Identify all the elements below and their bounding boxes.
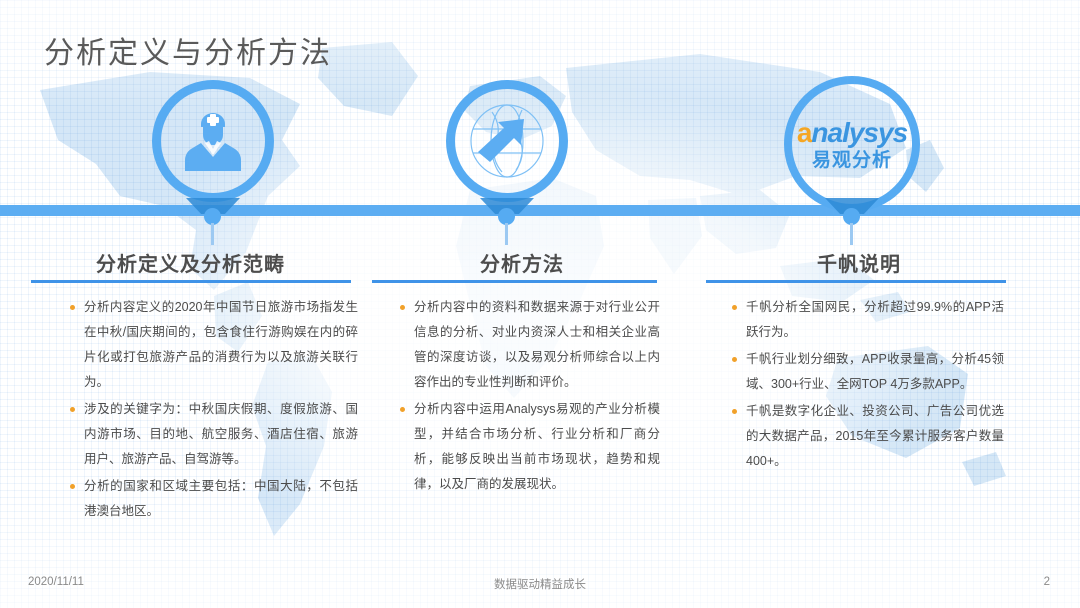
- globe-arrow-icon: [446, 80, 568, 202]
- analysys-wordmark: analysys: [797, 119, 907, 147]
- column-analysis-definition: 分析定义及分析范畴 分析内容定义的2020年中国节日旅游市场指发生在中秋/国庆期…: [18, 80, 363, 212]
- list-item: 分析内容中运用Analysys易观的产业分析模型，并结合市场分析、行业分析和厂商…: [392, 397, 660, 497]
- column-rule: [372, 280, 657, 283]
- icon-badge-wrapper: [18, 80, 363, 212]
- slide-canvas: 分析定义与分析方法: [0, 0, 1080, 608]
- analysys-logo-icon: analysys 易观分析: [784, 76, 920, 212]
- column-analysis-method: 分析方法 分析内容中的资料和数据来源于对行业公开信息的分析、对业内资深人士和相关…: [372, 80, 672, 212]
- column-heading: 分析方法: [372, 248, 672, 277]
- analysys-mark-a: a: [797, 117, 812, 148]
- analysys-wordmark-text: nalysys: [811, 117, 907, 148]
- slide-footer: 2020/11/11 数据驱动精益成长 2: [0, 576, 1080, 596]
- icon-badge-wrapper: [372, 80, 672, 212]
- list-item: 分析的国家和区域主要包括：中国大陆，不包括港澳台地区。: [62, 474, 358, 524]
- list-item: 分析内容中的资料和数据来源于对行业公开信息的分析、对业内资深人士和相关企业高管的…: [392, 295, 660, 395]
- list-item: 千帆是数字化企业、投资公司、广告公司优选的大数据产品，2015年至今累计服务客户…: [724, 399, 1004, 474]
- page-title: 分析定义与分析方法: [44, 28, 332, 72]
- analysys-logo: analysys 易观分析: [797, 119, 907, 170]
- timeline-pin: [204, 208, 221, 225]
- column-heading: 千帆说明: [700, 248, 1018, 277]
- timeline-pin: [843, 208, 860, 225]
- column-qianfan-description: analysys 易观分析 千帆说明 千帆分析全国网民，分析超过99.9%的AP…: [700, 80, 1018, 212]
- analysys-chinese-name: 易观分析: [797, 151, 907, 170]
- footer-page-number: 2: [1044, 576, 1050, 588]
- doctor-person-icon: [152, 80, 274, 202]
- bullet-list: 分析内容定义的2020年中国节日旅游市场指发生在中秋/国庆期间的，包含食住行游购…: [18, 295, 358, 526]
- list-item: 分析内容定义的2020年中国节日旅游市场指发生在中秋/国庆期间的，包含食住行游购…: [62, 295, 358, 395]
- list-item: 涉及的关键字为：中秋国庆假期、度假旅游、国内游市场、目的地、航空服务、酒店住宿、…: [62, 397, 358, 472]
- list-item: 千帆分析全国网民，分析超过99.9%的APP活跃行为。: [724, 295, 1004, 345]
- column-rule: [31, 280, 351, 283]
- bullet-list: 千帆分析全国网民，分析超过99.9%的APP活跃行为。 千帆行业划分细致，APP…: [700, 295, 1004, 476]
- bullet-list: 分析内容中的资料和数据来源于对行业公开信息的分析、对业内资深人士和相关企业高管的…: [372, 295, 660, 499]
- column-rule: [706, 280, 1006, 283]
- column-heading: 分析定义及分析范畴: [18, 248, 363, 277]
- footer-tagline: 数据驱动精益成长: [0, 576, 1080, 592]
- list-item: 千帆行业划分细致，APP收录量高，分析45领域、300+行业、全网TOP 4万多…: [724, 347, 1004, 397]
- timeline-pin: [498, 208, 515, 225]
- icon-badge-wrapper: analysys 易观分析: [700, 80, 1018, 212]
